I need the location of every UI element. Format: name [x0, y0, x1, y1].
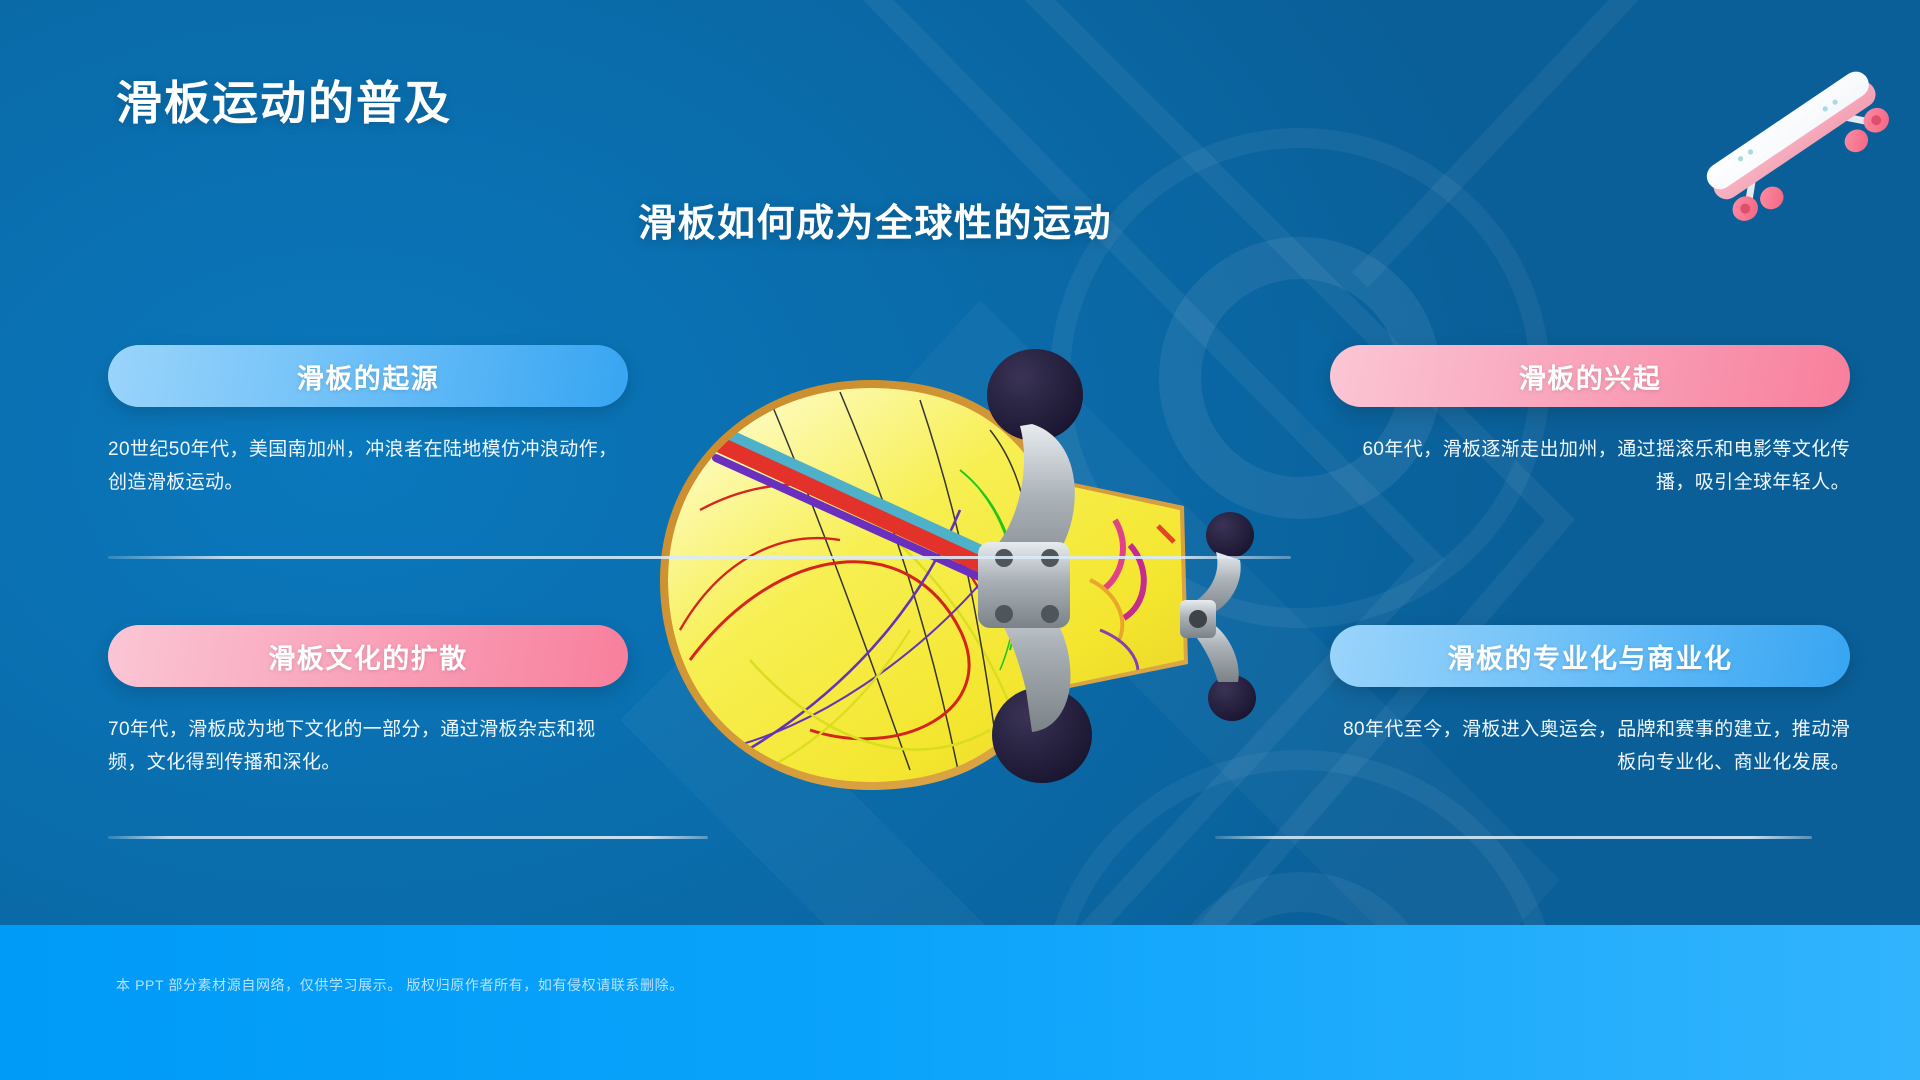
- page-subtitle: 滑板如何成为全球性的运动: [0, 192, 1920, 247]
- pill-label-origin[interactable]: 滑板的起源: [108, 345, 628, 407]
- pill-text: 滑板文化的扩散: [268, 637, 468, 676]
- skateboard-icon: [1694, 52, 1904, 242]
- skateboard-deck-photo: [660, 330, 1280, 840]
- body-text-origin: 20世纪50年代，美国南加州，冲浪者在陆地模仿冲浪动作，创造滑板运动。: [108, 433, 628, 500]
- pill-label-professional[interactable]: 滑板的专业化与商业化: [1330, 625, 1850, 687]
- pill-label-culture[interactable]: 滑板文化的扩散: [108, 625, 628, 687]
- body-text-rise: 60年代，滑板逐渐走出加州，通过摇滚乐和电影等文化传播，吸引全球年轻人。: [1330, 433, 1850, 500]
- divider-top: [108, 556, 1291, 559]
- divider-bottom-right: [1215, 836, 1812, 839]
- content-block-rise: 滑板的兴起 60年代，滑板逐渐走出加州，通过摇滚乐和电影等文化传播，吸引全球年轻…: [1330, 345, 1850, 500]
- footer-note: 本 PPT 部分素材源自网络，仅供学习展示。 版权归原作者所有，如有侵权请联系删…: [116, 975, 684, 995]
- divider-bottom-left: [108, 836, 708, 839]
- pill-label-rise[interactable]: 滑板的兴起: [1330, 345, 1850, 407]
- footer-bar: 本 PPT 部分素材源自网络，仅供学习展示。 版权归原作者所有，如有侵权请联系删…: [0, 925, 1920, 1080]
- content-block-origin: 滑板的起源 20世纪50年代，美国南加州，冲浪者在陆地模仿冲浪动作，创造滑板运动…: [108, 345, 628, 500]
- pill-text: 滑板的兴起: [1519, 357, 1662, 396]
- pill-text: 滑板的起源: [297, 357, 440, 396]
- content-block-culture: 滑板文化的扩散 70年代，滑板成为地下文化的一部分，通过滑板杂志和视频，文化得到…: [108, 625, 628, 780]
- body-text-culture: 70年代，滑板成为地下文化的一部分，通过滑板杂志和视频，文化得到传播和深化。: [108, 713, 628, 780]
- pill-text: 滑板的专业化与商业化: [1448, 637, 1733, 676]
- content-block-professional: 滑板的专业化与商业化 80年代至今，滑板进入奥运会，品牌和赛事的建立，推动滑板向…: [1330, 625, 1850, 780]
- page-title: 滑板运动的普及: [116, 78, 452, 129]
- slide-canvas: 滑板运动的普及 滑板如何成为全球性的运动: [0, 0, 1920, 1080]
- body-text-professional: 80年代至今，滑板进入奥运会，品牌和赛事的建立，推动滑板向专业化、商业化发展。: [1330, 713, 1850, 780]
